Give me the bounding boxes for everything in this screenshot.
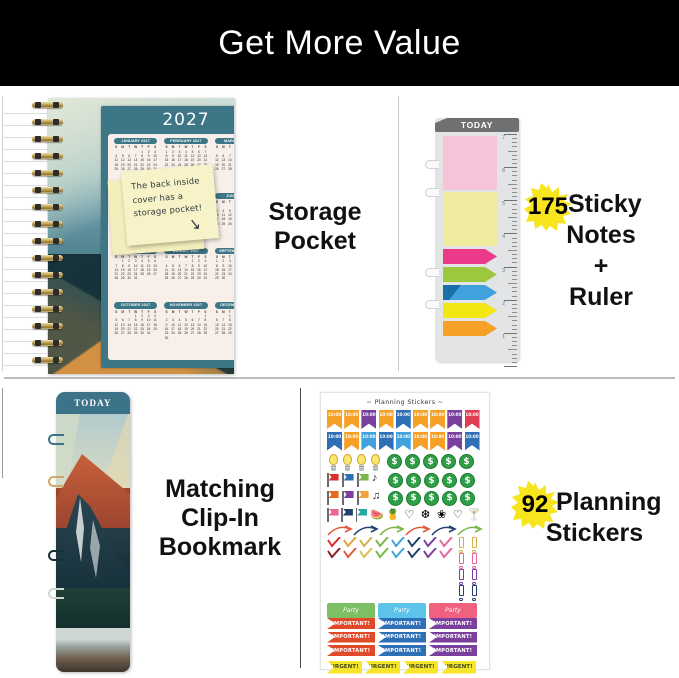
exclamation-bar: [472, 553, 477, 564]
ruler-tick: [512, 242, 517, 243]
spiral-coil: [32, 102, 63, 108]
exclamation-sticker: [457, 585, 466, 601]
time-banner-sticker: 10:00: [361, 410, 376, 429]
time-banner-sticker: 10:00: [430, 432, 445, 451]
lake-layer: [56, 628, 130, 672]
exclamation-bar: [459, 569, 464, 580]
calendar-month: MARCH 2027SMTWTFS12345678910111213141516…: [212, 138, 234, 192]
calendar-days: SMTWTFS123456789101112131415161718192021…: [212, 145, 234, 171]
day-number: 25: [233, 272, 234, 276]
ruler-number: 7: [502, 135, 505, 141]
time-banner-sticker: 10:00: [344, 432, 359, 451]
bulb-base: [331, 465, 336, 471]
day-number: 31: [132, 276, 138, 280]
sticker-sheet-image: ~ Planning Stickers ~ 10:0010:0010:0010:…: [320, 392, 490, 670]
urgent-sticker: URGENT!: [403, 661, 438, 674]
flag-cloth: [343, 509, 353, 516]
sticker-row: ♪$$$$$: [327, 473, 483, 491]
time-banner-sticker: 10:00: [447, 432, 462, 451]
divider-left-bottom: [2, 388, 3, 478]
ruler-tick: [512, 308, 517, 309]
flag-sticker: [356, 508, 368, 522]
green-flag: [443, 267, 497, 282]
spiral-coil: [32, 204, 63, 210]
exclamation-pair: [457, 553, 483, 569]
ruler-tick: [512, 180, 517, 181]
ruler-tick: [512, 341, 517, 342]
decorative-sticker: ❀: [435, 508, 449, 523]
ruler-tick: [512, 192, 517, 193]
blue-flag: [443, 285, 497, 300]
ruler-tick: [504, 300, 517, 301]
important-sticker: IMPORTANT!: [378, 632, 426, 643]
clip-icon: [425, 268, 439, 277]
ruler-tick: [512, 312, 517, 313]
bulb-base: [345, 465, 350, 471]
yellow-sticky-pad: [443, 192, 497, 246]
flag-pole: [357, 473, 359, 487]
calendar-month-label: OCTOBER 2027: [114, 302, 157, 308]
spiral-coil: [32, 153, 63, 159]
dollar-coin-sticker: $: [442, 491, 457, 506]
sticker-row: [327, 525, 483, 537]
calendar-month-label: MARCH 2027: [215, 138, 234, 144]
spiral-coil: [32, 255, 63, 261]
dollar-coin-sticker: $: [460, 491, 475, 506]
calendar-days: SMTWTFS123456789101112131415161718192021…: [161, 310, 210, 340]
ruler-tick: [512, 291, 517, 292]
calendar-days: SMTWTFS123456789101112131415161718192021…: [161, 255, 210, 281]
calendar-month: JULY 2027SMTWTFS123456789101112131415161…: [111, 248, 160, 302]
coin-group: $$$$$: [388, 491, 478, 509]
badge-number: 92: [511, 481, 559, 529]
sticker-row: URGENT!URGENT!URGENT!URGENT!: [327, 661, 483, 674]
sticker-row: ♫$$$$$: [327, 491, 483, 509]
ruler-body: TODAY 7654321: [435, 118, 519, 362]
important-sticker: IMPORTANT!: [429, 632, 477, 643]
ruler-tick: [504, 366, 517, 367]
sticky-caption-line-3: Ruler: [525, 283, 677, 312]
exclamation-pair: [457, 569, 483, 585]
ruler-tick: [508, 184, 517, 185]
caption-line-2: Clip-In: [140, 504, 300, 533]
planner-image: 2027 JANUARY 2027SMTWTFS1234567891011121…: [4, 96, 254, 376]
bookmark-caption: Matching Clip-In Bookmark: [140, 475, 300, 562]
ruler-number: 5: [502, 201, 505, 207]
checkmark-sticker: [359, 537, 374, 548]
checkmark-sticker: [343, 537, 358, 548]
dollar-coin-sticker: $: [442, 473, 457, 488]
exclamation-column: [457, 537, 483, 601]
ruler-tick: [512, 175, 517, 176]
caption-line-1: Storage: [236, 198, 394, 227]
forest-layer: [56, 588, 130, 630]
sticker-row: IMPORTANT!IMPORTANT!IMPORTANT!: [327, 618, 483, 632]
clip-icon: [425, 300, 439, 309]
party-sticker: Party: [378, 603, 426, 618]
important-sticker: IMPORTANT!: [378, 645, 426, 656]
stickers-count-badge: 92: [511, 481, 559, 529]
decorative-sticker: ❆: [418, 508, 432, 523]
sticky-note-callout: The back inside cover has a storage pock…: [121, 164, 219, 246]
decorative-sticker: 🍉: [370, 508, 384, 523]
caption-line-3: Bookmark: [140, 533, 300, 562]
flag-pole: [357, 491, 359, 505]
flag-sticker: [327, 473, 340, 487]
exclamation-sticker: [470, 553, 479, 569]
clip-in-bookmark-image: TODAY: [48, 392, 144, 674]
flag-cloth: [357, 509, 367, 516]
dollar-coin-sticker: $: [387, 454, 402, 469]
ruler-tick: [512, 287, 517, 288]
important-sticker: IMPORTANT!: [327, 645, 375, 656]
checkmark-sticker: [391, 537, 406, 548]
dollar-coin-sticker: $: [423, 454, 438, 469]
sticker-row: PartyPartyParty: [327, 603, 483, 618]
flag-cloth: [344, 474, 354, 481]
flag-pole: [327, 508, 329, 522]
ruler-tick: [512, 138, 517, 139]
calendar-days: SMTWTFS123456789101112131415161718192021…: [111, 255, 160, 281]
calendar-month: NOVEMBER 2027SMTWTFS12345678910111213141…: [161, 302, 210, 356]
calendar-days: SMTWTFS123456789101112131415161718192021…: [161, 145, 210, 167]
day-number: 31: [145, 331, 151, 335]
ruler-tick: [504, 134, 517, 135]
bookmark-clip-icon: [48, 588, 64, 599]
exclamation-dot: [459, 598, 462, 601]
page-title: Get More Value: [218, 24, 461, 63]
flag-sticker: [327, 508, 339, 522]
flag-cloth: [359, 491, 369, 498]
important-sticker: IMPORTANT!: [327, 632, 375, 643]
exclamation-sticker: [470, 537, 479, 553]
ruler-tick: [512, 229, 517, 230]
ruler-tick: [512, 246, 517, 247]
time-banner-sticker: 10:00: [379, 432, 394, 451]
ruler-tick: [512, 238, 517, 239]
dollar-coin-sticker: $: [406, 491, 421, 506]
ruler-number: 3: [502, 268, 505, 274]
flag-cloth: [344, 491, 354, 498]
flag-pole: [327, 491, 329, 505]
time-banner-sticker: 10:00: [361, 432, 376, 451]
flag-cloth: [359, 474, 369, 481]
spiral-coil: [32, 187, 63, 193]
calendar-month-label: JANUARY 2027: [114, 138, 157, 144]
day-number: 30: [220, 276, 226, 280]
flag-cloth: [329, 474, 339, 481]
time-banner-sticker: 10:00: [413, 432, 428, 451]
flag-sticker: [342, 491, 355, 505]
ruler-tick: [508, 349, 517, 350]
ruler-tick: [512, 159, 517, 160]
day-number: 30: [163, 336, 169, 340]
ruler-tick: [512, 155, 517, 156]
down-right-arrow-icon: ↘: [188, 214, 203, 233]
spiral-coil: [32, 357, 63, 363]
dollar-coin-sticker: $: [424, 473, 439, 488]
ruler-tick: [512, 209, 517, 210]
urgent-sticker: URGENT!: [441, 661, 476, 674]
bulb-base: [359, 465, 364, 471]
lightbulb-sticker: [355, 454, 367, 473]
day-number: 25: [152, 327, 158, 331]
ruler-tick: [512, 279, 517, 280]
exclamation-sticker: [457, 569, 466, 585]
exclamation-sticker: [457, 553, 466, 569]
ruler-tick: [512, 196, 517, 197]
arrow-sticker: [353, 525, 377, 537]
checkmark-sticker: [439, 537, 454, 548]
spiral-coil: [32, 289, 63, 295]
exclamation-bar: [459, 537, 464, 548]
decorative-sticker: ♡: [402, 508, 416, 523]
ruler-tick: [512, 296, 517, 297]
arrow-sticker: [457, 525, 481, 537]
checkmark-sticker: [359, 548, 374, 559]
ruler-tick: [508, 217, 517, 218]
ruler-number: 6: [502, 168, 505, 174]
ruler-tick: [512, 221, 517, 222]
checkmark-sticker: [407, 548, 422, 559]
dollar-coin-sticker: $: [406, 473, 421, 488]
exclamation-bar: [472, 537, 477, 548]
important-sticker: IMPORTANT!: [429, 618, 477, 629]
checkmark-sticker: [439, 548, 454, 559]
sticker-row: [327, 548, 455, 559]
time-banner-sticker: 10:00: [465, 432, 480, 451]
ruler-tick: [504, 167, 517, 168]
ruler-tick: [512, 354, 517, 355]
exclamation-sticker: [470, 569, 479, 585]
ruler-tick: [508, 283, 517, 284]
flag-sticker: [357, 491, 370, 505]
clip-icon: [425, 160, 439, 169]
orange-flag: [443, 321, 497, 336]
day-number: 31: [202, 276, 208, 280]
ruler-tick: [504, 233, 517, 234]
spiral-coil: [32, 272, 63, 278]
planner-cover: 2027 JANUARY 2027SMTWTFS1234567891011121…: [48, 98, 234, 374]
spiral-coil: [32, 323, 63, 329]
ruler-tick: [512, 254, 517, 255]
ruler-tick: [512, 358, 517, 359]
flag-cloth: [329, 491, 339, 498]
sticky-caption-line-1: Sticky: [568, 190, 642, 219]
dollar-coin-sticker: $: [388, 473, 403, 488]
caption-line-2: Pocket: [236, 227, 394, 256]
checkmark-sticker: [407, 537, 422, 548]
day-number: 29: [233, 167, 234, 171]
ruler-tick: [512, 142, 517, 143]
sticky-notes-ruler-image: TODAY 7654321: [435, 110, 531, 362]
stickers-caption-line-1: Planning: [556, 488, 662, 517]
time-banner-sticker: 10:00: [413, 410, 428, 429]
ruler-tick: [512, 188, 517, 189]
time-banner-sticker: 10:00: [344, 410, 359, 429]
bulb-glass: [343, 454, 352, 465]
flag-pole: [327, 473, 329, 487]
time-banner-sticker: 10:00: [396, 432, 411, 451]
spiral-binding: [32, 102, 66, 370]
lightbulb-sticker: [327, 454, 339, 473]
important-sticker: IMPORTANT!: [378, 618, 426, 629]
ruler-tick: [512, 146, 517, 147]
checkmark-group: [327, 537, 455, 601]
ruler-tick: [512, 225, 517, 226]
ruler-number: 1: [502, 334, 505, 340]
calendar-month-label: FEBRUARY 2027: [164, 138, 207, 144]
checkmark-sticker: [391, 548, 406, 559]
party-sticker: Party: [327, 603, 375, 618]
today-tab-label: TODAY: [74, 398, 112, 408]
arrow-sticker: [431, 525, 455, 537]
dollar-coin-sticker: $: [424, 491, 439, 506]
spiral-coil: [32, 340, 63, 346]
divider-vertical-top: [398, 96, 399, 371]
ruler-tick: [512, 337, 517, 338]
ruler-tick: [512, 258, 517, 259]
time-banner-sticker: 10:00: [396, 410, 411, 429]
ruler-tick: [512, 329, 517, 330]
checkmark-sticker: [423, 548, 438, 559]
day-number: 30: [233, 331, 234, 335]
bulb-glass: [329, 454, 338, 465]
bookmark-clip-icon: [48, 434, 64, 445]
bulb-glass: [357, 454, 366, 465]
ruler-scale: 7654321: [499, 134, 519, 366]
checkmark-sticker: [375, 548, 390, 559]
ruler-tick: [512, 275, 517, 276]
decorative-sticker: 🍍: [386, 508, 400, 523]
ruler-number: 2: [502, 301, 505, 307]
ruler-tick: [512, 362, 517, 363]
today-tab-label: TODAY: [435, 118, 519, 132]
ruler-tick: [512, 304, 517, 305]
time-banner-sticker: 10:00: [327, 410, 342, 429]
checkmark-and-exclamation-group: [327, 537, 483, 601]
coin-group: $$$$$: [388, 473, 478, 491]
spiral-coil: [32, 170, 63, 176]
clip-icon: [425, 188, 439, 197]
pink-sticky-pad: [443, 136, 497, 190]
sticker-row: IMPORTANT!IMPORTANT!IMPORTANT!: [327, 632, 483, 646]
ruler-tick: [512, 345, 517, 346]
day-number: 27: [152, 272, 158, 276]
ruler-tick: [512, 320, 517, 321]
calendar-days: SMTWTFS123456789101112131415161718192021…: [111, 145, 160, 171]
exclamation-sticker: [457, 537, 466, 553]
lightbulb-sticker: [341, 454, 353, 473]
yellow-flag: [443, 303, 497, 318]
time-banner-sticker: 10:00: [327, 432, 342, 451]
ruler-tick: [508, 316, 517, 317]
divider-horizontal-middle: [4, 377, 675, 379]
bookmark-artwork: [56, 392, 130, 672]
spiral-coil: [32, 221, 63, 227]
infographic-page: Get More Value 2027 JANUARY 2027SMTWTFS1…: [0, 0, 679, 678]
sticker-row: 10:0010:0010:0010:0010:0010:0010:0010:00…: [327, 410, 483, 432]
bookmark-body: [56, 392, 130, 672]
calendar-days: SMTWTFS123456789101112131415161718192021…: [212, 310, 234, 336]
lightbulb-sticker: [369, 454, 381, 473]
urgent-sticker: URGENT!: [327, 661, 362, 674]
ruler-tick: [512, 271, 517, 272]
ruler-number: 4: [502, 234, 505, 240]
divider-left-top: [2, 96, 3, 371]
calendar-month: AUGUST 2027SMTWTFS1234567891011121314151…: [161, 248, 210, 302]
calendar-year: 2027: [101, 110, 234, 130]
bookmark-today-tab: TODAY: [56, 392, 130, 414]
decorative-sticker: ♡: [451, 508, 465, 523]
arrow-sticker: [379, 525, 403, 537]
checkmark-sticker: [375, 537, 390, 548]
flag-pole: [341, 508, 343, 522]
decorative-sticker: 🍸: [467, 508, 481, 523]
ruler-tick: [504, 200, 517, 201]
checkmark-sticker: [327, 537, 342, 548]
dollar-coin-sticker: $: [388, 491, 403, 506]
flag-pole: [342, 491, 344, 505]
ruler-tick: [508, 151, 517, 152]
sticker-sheet-title: ~ Planning Stickers ~: [327, 398, 483, 406]
ruler-tick: [504, 333, 517, 334]
exclamation-bar: [459, 585, 464, 596]
exclamation-bar: [459, 553, 464, 564]
flag-sticker: [341, 508, 353, 522]
flag-pole: [342, 473, 344, 487]
flag-sticker: [357, 473, 370, 487]
time-banner-sticker: 10:00: [379, 410, 394, 429]
calendar-month-label: DECEMBER 2027: [215, 302, 234, 308]
urgent-sticker: URGENT!: [365, 661, 400, 674]
bulb-glass: [371, 454, 380, 465]
exclamation-pair: [457, 537, 483, 553]
calendar-month: OCTOBER 2027SMTWTFS123456789101112131415…: [111, 302, 160, 356]
music-note-sticker: ♪: [372, 473, 384, 487]
pink-flag: [443, 249, 497, 264]
arrow-sticker: [405, 525, 429, 537]
exclamation-bar: [472, 585, 477, 596]
flag-sticker: [342, 473, 355, 487]
dollar-coin-sticker: $: [405, 454, 420, 469]
checkmark-sticker: [343, 548, 358, 559]
sticky-notes-count-badge: 175: [524, 183, 572, 231]
arrow-sticker: [327, 525, 351, 537]
exclamation-pair: [457, 585, 483, 601]
ruler-tick: [512, 262, 517, 263]
ruler-tick: [512, 163, 517, 164]
exclamation-bar: [472, 569, 477, 580]
party-sticker: Party: [429, 603, 477, 618]
sticker-row: [327, 537, 455, 548]
checkmark-sticker: [327, 548, 342, 559]
calendar-days: SMTWTFS123456789101112131415161718192021…: [212, 255, 234, 281]
dollar-coin-sticker: $: [460, 473, 475, 488]
header-banner: Get More Value: [0, 0, 679, 86]
time-banner-sticker: 10:00: [447, 410, 462, 429]
spiral-coil: [32, 119, 63, 125]
ruler-tick: [512, 213, 517, 214]
calendar-days: SMTWTFS123456789101112131415161718192021…: [111, 310, 160, 336]
ruler-tick: [512, 325, 517, 326]
time-banner-sticker: 10:00: [465, 410, 480, 429]
sticker-row: IMPORTANT!IMPORTANT!IMPORTANT!: [327, 645, 483, 659]
ruler-tick: [512, 204, 517, 205]
important-sticker: IMPORTANT!: [429, 645, 477, 656]
bookmark-clip-icon: [48, 550, 64, 561]
badge-number: 175: [524, 183, 572, 231]
